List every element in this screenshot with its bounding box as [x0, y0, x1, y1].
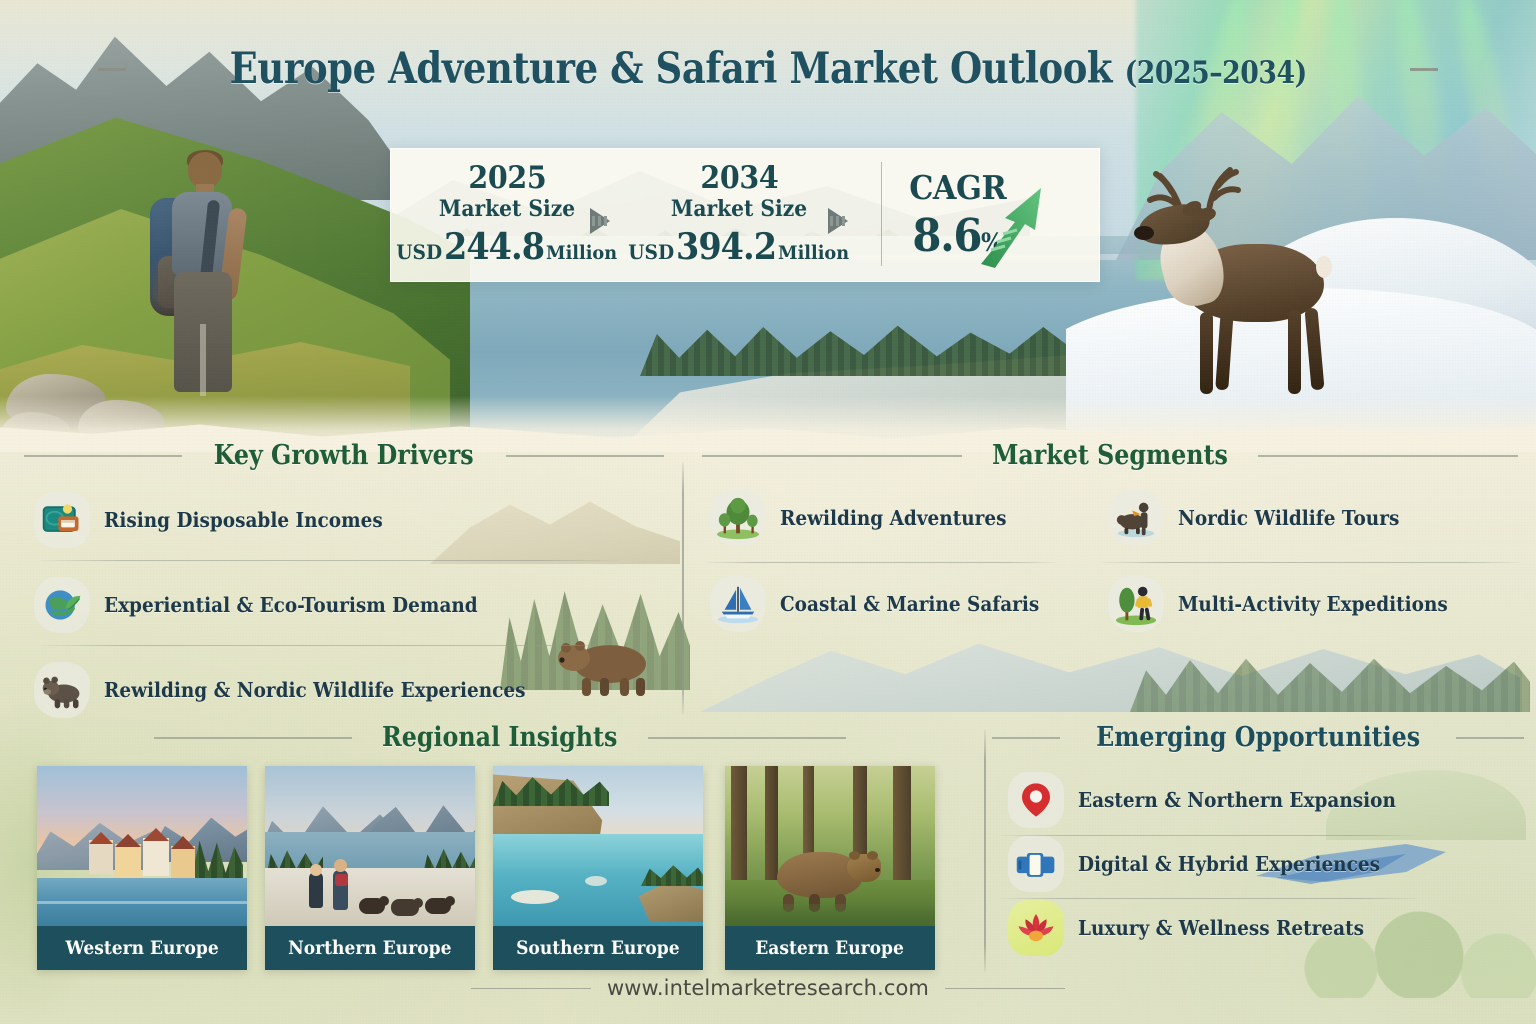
title-rule-left	[98, 68, 126, 71]
page-title: Europe Adventure & Safari Market Outlook…	[229, 44, 1306, 94]
vr-headset-icon	[1008, 836, 1064, 892]
drivers-heading-text: Key Growth Drivers	[214, 440, 474, 471]
stat-cagr: CAGR 8.6 %	[855, 168, 1061, 262]
stat-2025-number: 244.8	[444, 226, 544, 268]
wallet-icon	[34, 492, 90, 548]
rule-left-opportunities	[992, 737, 1060, 739]
decor-mountains-segments	[700, 622, 1520, 712]
lotus-icon	[1008, 900, 1064, 956]
stat-2034-value: USD 394.2 Million	[629, 226, 850, 268]
region-card-eastern-europe[interactable]: Eastern Europe	[725, 766, 935, 970]
rule-right-opportunities	[1456, 737, 1524, 739]
segment-label-coastal: Coastal & Marine Safaris	[780, 592, 1039, 616]
regional-opportunities-divider	[984, 730, 986, 972]
title-main: Europe Adventure & Safari Market Outlook	[229, 44, 1124, 94]
stat-2034-year: 2034	[700, 162, 778, 195]
drivers-segments-divider	[682, 462, 684, 714]
segment-row-multiactivity[interactable]: Multi-Activity Expeditions	[1108, 576, 1478, 632]
segment-row-rewilding[interactable]: Rewilding Adventures	[710, 490, 1032, 546]
driver-row-incomes[interactable]: Rising Disposable Incomes	[34, 492, 414, 548]
footer-rule-right	[945, 988, 1065, 989]
driver-label-ecotourism: Experiential & Eco-Tourism Demand	[104, 593, 478, 617]
driver-label-incomes: Rising Disposable Incomes	[104, 508, 383, 532]
globe-leaf-icon	[34, 577, 90, 633]
reindeer-figure	[1126, 152, 1356, 402]
section-heading-regional: Regional Insights	[20, 722, 980, 753]
region-card-western-europe[interactable]: Western Europe	[37, 766, 247, 970]
rule-right-drivers	[506, 455, 664, 457]
region-art-mountain-trek	[265, 766, 475, 926]
driver-row-rewilding[interactable]: Rewilding & Nordic Wildlife Experiences	[34, 662, 572, 718]
region-card-northern-europe[interactable]: Northern Europe	[265, 766, 475, 970]
rule-right-regional	[648, 737, 846, 739]
regional-heading-text: Regional Insights	[382, 722, 617, 753]
region-art-lakeside-village	[37, 766, 247, 926]
driver-row-ecotourism[interactable]: Experiential & Eco-Tourism Demand	[34, 577, 519, 633]
wildlife-guide-icon	[1108, 490, 1164, 546]
opportunity-label-expansion: Eastern & Northern Expansion	[1078, 788, 1396, 812]
growth-up-arrow-icon	[975, 184, 1047, 268]
section-heading-opportunities: Emerging Opportunities	[992, 722, 1524, 753]
arrow-2034-to-cagr-icon	[828, 208, 848, 234]
footer-rule-left	[471, 988, 591, 989]
stat-2034-currency: USD	[629, 240, 675, 264]
opportunities-heading-text: Emerging Opportunities	[1096, 722, 1420, 753]
region-caption-eastern: Eastern Europe	[725, 926, 935, 970]
title-rule-right	[1410, 68, 1438, 71]
segment-row-nordic[interactable]: Nordic Wildlife Tours	[1108, 490, 1424, 546]
stat-2025-year: 2025	[468, 162, 546, 195]
trees-icon	[710, 490, 766, 546]
opportunity-label-digital: Digital & Hybrid Experiences	[1078, 852, 1380, 876]
rule-left-segments	[702, 455, 962, 457]
rule-left-regional	[154, 737, 352, 739]
opportunity-row-wellness[interactable]: Luxury & Wellness Retreats	[1008, 900, 1396, 956]
infographic-poster: Europe Adventure & Safari Market Outlook…	[0, 0, 1536, 1024]
rule-left-drivers	[24, 455, 182, 457]
rule-right-segments	[1258, 455, 1518, 457]
region-caption-western: Western Europe	[37, 926, 247, 970]
region-label-southern: Southern Europe	[516, 937, 680, 959]
segment-row-coastal[interactable]: Coastal & Marine Safaris	[710, 576, 1068, 632]
section-heading-drivers: Key Growth Drivers	[24, 440, 664, 471]
stat-2034-label: Market Size	[671, 196, 807, 222]
segments-heading-text: Market Segments	[992, 440, 1228, 471]
stat-2034-number: 394.2	[676, 226, 776, 268]
reindeer-muzzle	[1134, 226, 1154, 240]
bear-icon	[34, 662, 90, 718]
region-card-southern-europe[interactable]: Southern Europe	[493, 766, 703, 970]
reindeer-leg	[1200, 312, 1213, 394]
stat-2025-value: USD 244.8 Million	[397, 226, 618, 268]
segment-label-nordic: Nordic Wildlife Tours	[1178, 506, 1399, 530]
hiker-figure	[132, 152, 254, 420]
segment-label-rewilding: Rewilding Adventures	[780, 506, 1006, 530]
decor-forest-segments	[1130, 640, 1530, 712]
stat-2034-unit: Million	[778, 242, 849, 264]
opportunity-label-wellness: Luxury & Wellness Retreats	[1078, 916, 1364, 940]
reindeer-leg	[1288, 310, 1301, 394]
market-stats-panel: 2025 Market Size USD 244.8 Million 2034 …	[390, 148, 1100, 282]
stat-2025-unit: Million	[546, 242, 617, 264]
region-caption-northern: Northern Europe	[265, 926, 475, 970]
arrow-2025-to-2034-icon	[590, 208, 610, 234]
stat-2025: 2025 Market Size USD 244.8 Million	[391, 162, 623, 269]
region-label-northern: Northern Europe	[288, 937, 451, 959]
footer-url[interactable]: www.intelmarketresearch.com	[607, 976, 929, 1000]
section-heading-segments: Market Segments	[700, 440, 1520, 471]
stats-divider	[881, 162, 882, 266]
driver-divider-2	[40, 645, 620, 646]
region-label-eastern: Eastern Europe	[756, 937, 905, 959]
opportunity-row-expansion[interactable]: Eastern & Northern Expansion	[1008, 772, 1431, 828]
region-art-coastal-cliffs	[493, 766, 703, 926]
segment-label-multiactivity: Multi-Activity Expeditions	[1178, 592, 1448, 616]
segment-divider-left	[706, 562, 1056, 563]
poster-title: Europe Adventure & Safari Market Outlook…	[0, 36, 1536, 102]
hiker-leg-gap	[200, 324, 206, 396]
map-pin-icon	[1008, 772, 1064, 828]
region-label-western: Western Europe	[65, 937, 218, 959]
cagr-number: 8.6	[913, 209, 982, 262]
opportunity-row-digital[interactable]: Digital & Hybrid Experiences	[1008, 836, 1414, 892]
hiker-head	[188, 152, 222, 188]
opportunity-divider-2	[1000, 898, 1418, 899]
stat-2034: 2034 Market Size USD 394.2 Million	[623, 162, 855, 269]
decor-mountain-drivers	[430, 488, 680, 564]
reindeer-tail	[1316, 256, 1332, 278]
region-caption-southern: Southern Europe	[493, 926, 703, 970]
stat-2025-currency: USD	[397, 240, 443, 264]
hiker-tree-icon	[1108, 576, 1164, 632]
stat-2025-label: Market Size	[439, 196, 575, 222]
segment-divider-right	[1100, 562, 1520, 563]
sailboat-icon	[710, 576, 766, 632]
title-years: (2025–2034)	[1124, 55, 1306, 91]
region-art-forest-bear	[725, 766, 935, 926]
footer: www.intelmarketresearch.com	[0, 968, 1536, 1008]
driver-divider-1	[40, 560, 620, 561]
driver-label-rewilding: Rewilding & Nordic Wildlife Experiences	[104, 678, 526, 702]
